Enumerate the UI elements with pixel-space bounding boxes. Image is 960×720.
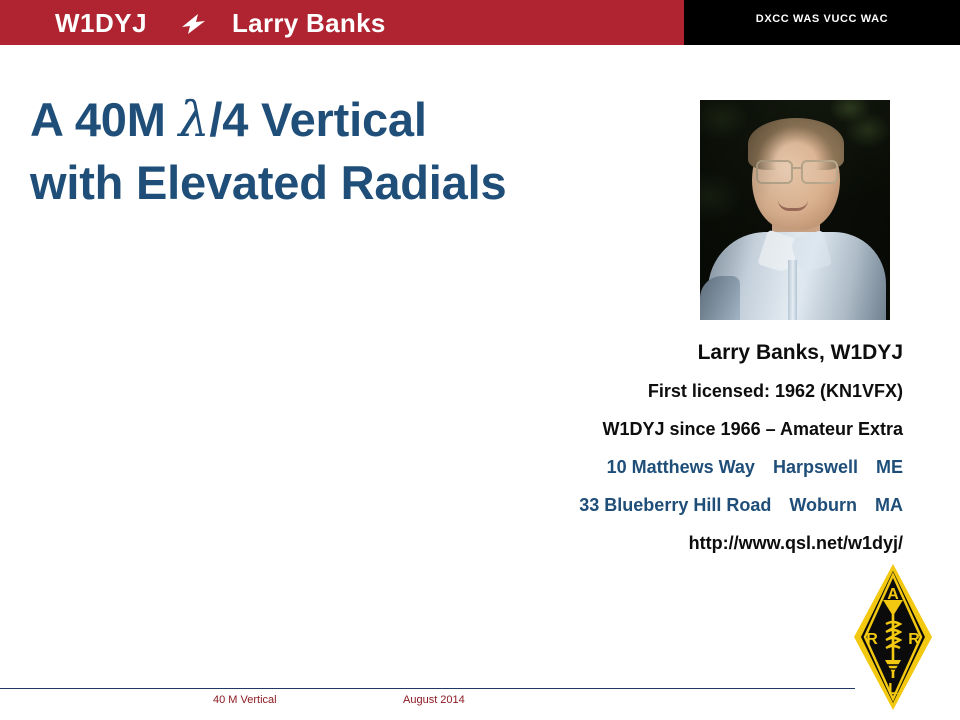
footer-date: August 2014 bbox=[403, 694, 465, 706]
arrl-letter-r-right: R bbox=[908, 631, 920, 648]
operator-name: Larry Banks, W1DYJ bbox=[460, 334, 903, 372]
header-presenter-name: Larry Banks bbox=[232, 8, 386, 39]
footer-subject: 40 M Vertical bbox=[213, 694, 277, 706]
title-line-1-post: /4 Vertical bbox=[209, 93, 426, 146]
address-ma-street: 33 Blueberry Hill Road bbox=[579, 495, 771, 515]
arrl-letter-a: A bbox=[887, 586, 899, 603]
address-maine: 10 Matthews WayHarpswellME bbox=[460, 448, 903, 486]
title-line-1-pre: A 40M bbox=[30, 93, 179, 146]
website-url[interactable]: http://www.qsl.net/w1dyj/ bbox=[460, 524, 903, 562]
slide-canvas: W1DYJ Larry Banks DXCC WAS VUCC WAC A 40… bbox=[0, 0, 960, 720]
arrl-diamond-logo: A R R L bbox=[852, 562, 934, 712]
header-callsign: W1DYJ bbox=[55, 8, 147, 39]
address-maine-street: 10 Matthews Way bbox=[607, 457, 755, 477]
license-class-line: W1DYJ since 1966 – Amateur Extra bbox=[460, 410, 903, 448]
footer-divider bbox=[0, 688, 855, 689]
lightning-bolt-icon bbox=[178, 12, 210, 36]
title-line-2: with Elevated Radials bbox=[30, 151, 670, 214]
address-ma-state: MA bbox=[875, 495, 903, 515]
address-massachusetts: 33 Blueberry Hill RoadWoburnMA bbox=[460, 486, 903, 524]
address-maine-city: Harpswell bbox=[773, 457, 858, 477]
contact-info-block: Larry Banks, W1DYJ First licensed: 1962 … bbox=[460, 334, 903, 562]
page-title: A 40M λ/4 Vertical with Elevated Radials bbox=[30, 88, 670, 214]
lambda-symbol: λ bbox=[179, 91, 210, 148]
address-maine-state: ME bbox=[876, 457, 903, 477]
address-ma-city: Woburn bbox=[789, 495, 857, 515]
title-line-1: A 40M λ/4 Vertical bbox=[30, 88, 670, 151]
photo-shadow bbox=[700, 100, 890, 320]
first-licensed-line: First licensed: 1962 (KN1VFX) bbox=[460, 372, 903, 410]
arrl-letter-r-left: R bbox=[866, 631, 878, 648]
portrait-photo bbox=[700, 100, 890, 320]
header-awards-text: DXCC WAS VUCC WAC bbox=[684, 13, 960, 25]
arrl-letter-l: L bbox=[888, 681, 898, 698]
